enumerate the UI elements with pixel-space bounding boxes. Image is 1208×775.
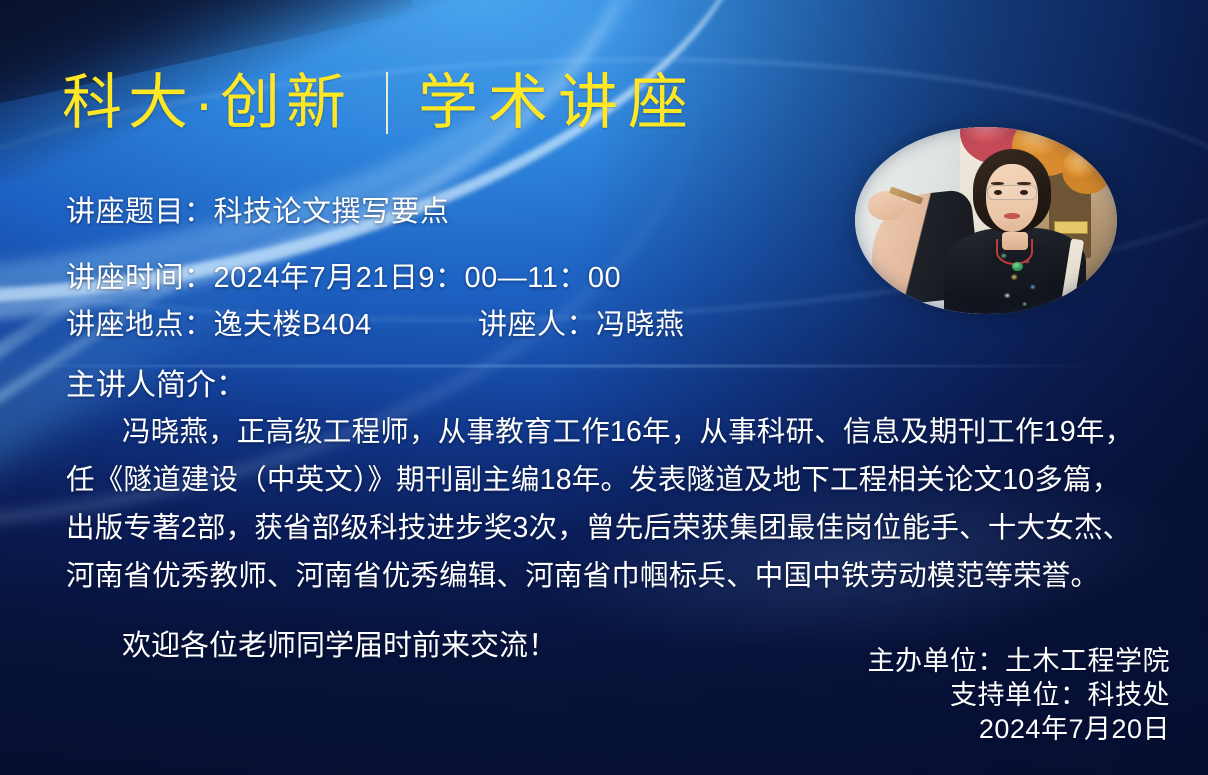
speaker-photo — [855, 127, 1117, 314]
bio-body: 冯晓燕，正高级工程师，从事教育工作16年，从事科研、信息及期刊工作19年， 任《… — [66, 408, 1171, 600]
bio-line-1: 冯晓燕，正高级工程师，从事教育工作16年，从事科研、信息及期刊工作19年， — [66, 408, 1171, 456]
title-sub-text: 学术讲座 — [418, 73, 698, 133]
lecture-speaker-line: 讲座人：冯晓燕 — [478, 311, 685, 340]
footer-date: 2024年7月20日 — [868, 712, 1171, 746]
bio-line-3: 出版专著2部，获省部级科技进步奖3次，曾先后荣获集团最佳岗位能手、十大女杰、 — [66, 504, 1171, 552]
title-separator — [386, 72, 388, 134]
poster-footer: 主办单位：土木工程学院 支持单位：科技处 2024年7月20日 — [868, 644, 1171, 746]
title-main-text: 科大·创新 — [62, 73, 352, 133]
lecture-place-line: 讲座地点：逸夫楼B404 — [66, 311, 372, 340]
photo-vignette — [855, 127, 1117, 314]
lecture-time-line: 讲座时间：2024年7月21日9：00—11：00 — [66, 264, 621, 293]
poster-title: 科大·创新 学术讲座 — [62, 72, 698, 134]
bio-line-4: 河南省优秀教师、河南省优秀编辑、河南省巾帼标兵、中国中铁劳动模范等荣誉。 — [66, 552, 1171, 600]
welcome-line: 欢迎各位老师同学届时前来交流！ — [122, 622, 557, 664]
lecture-poster: 科大·创新 学术讲座 — [0, 0, 1208, 775]
bio-heading: 主讲人简介： — [66, 360, 246, 404]
bio-line-2: 任《隧道建设（中英文）》期刊副主编18年。发表隧道及地下工程相关论文10多篇， — [66, 456, 1171, 504]
footer-organizer: 主办单位：土木工程学院 — [868, 644, 1171, 678]
footer-supporter: 支持单位：科技处 — [868, 678, 1171, 712]
lecture-topic-line: 讲座题目：科技论文撰写要点 — [66, 198, 450, 227]
